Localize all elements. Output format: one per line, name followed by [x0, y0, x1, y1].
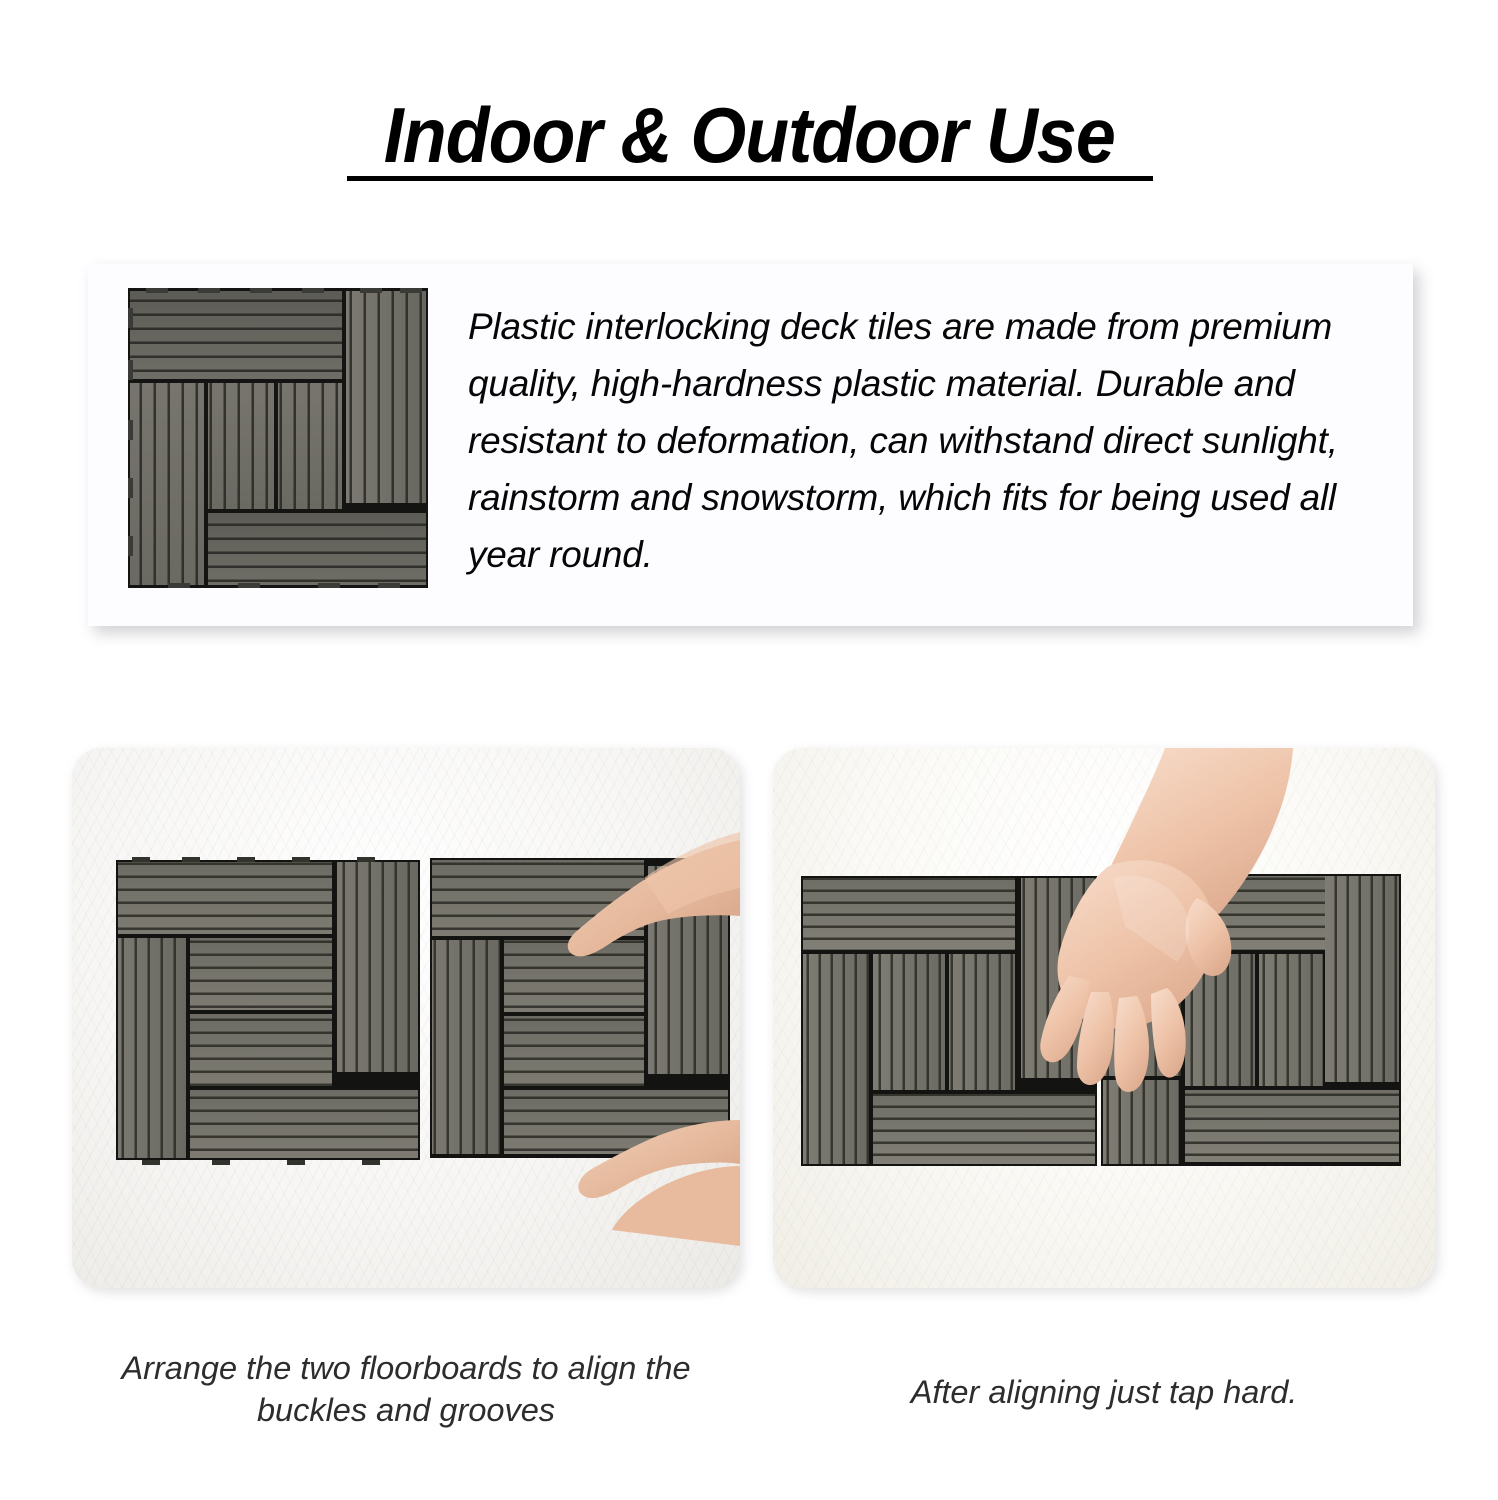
deck-tile-left — [116, 857, 420, 1165]
title-underline-rule — [347, 176, 1153, 181]
step-image-align — [72, 748, 740, 1288]
tap-step-illustration — [773, 748, 1435, 1288]
deck-tile-thumbnail-image — [128, 288, 428, 588]
tile-plank-right — [346, 291, 426, 503]
align-step-illustration — [72, 748, 740, 1288]
tile-plank-center-b — [278, 383, 342, 509]
info-card-paragraph: Plastic interlocking deck tiles are made… — [468, 298, 1359, 583]
page-title-container: Indoor & Outdoor Use — [0, 96, 1498, 184]
tile-plank-bottom — [208, 513, 426, 585]
tile-plank-left — [130, 383, 204, 585]
tile-plank-top — [130, 291, 342, 379]
caption-step-align: Arrange the two floorboards to align the… — [72, 1348, 740, 1431]
product-infographic-page: { "page": { "background_color": "#ffffff… — [0, 0, 1498, 1500]
caption-step-tap: After aligning just tap hard. — [773, 1372, 1435, 1414]
step-image-tap — [773, 748, 1435, 1288]
info-card: Plastic interlocking deck tiles are made… — [88, 264, 1413, 626]
deck-tile-pinwheel-svg — [128, 288, 428, 588]
tile-plank-center-a — [208, 383, 274, 509]
info-card-inner: Plastic interlocking deck tiles are made… — [88, 264, 1413, 626]
page-title: Indoor & Outdoor Use — [380, 96, 1118, 184]
